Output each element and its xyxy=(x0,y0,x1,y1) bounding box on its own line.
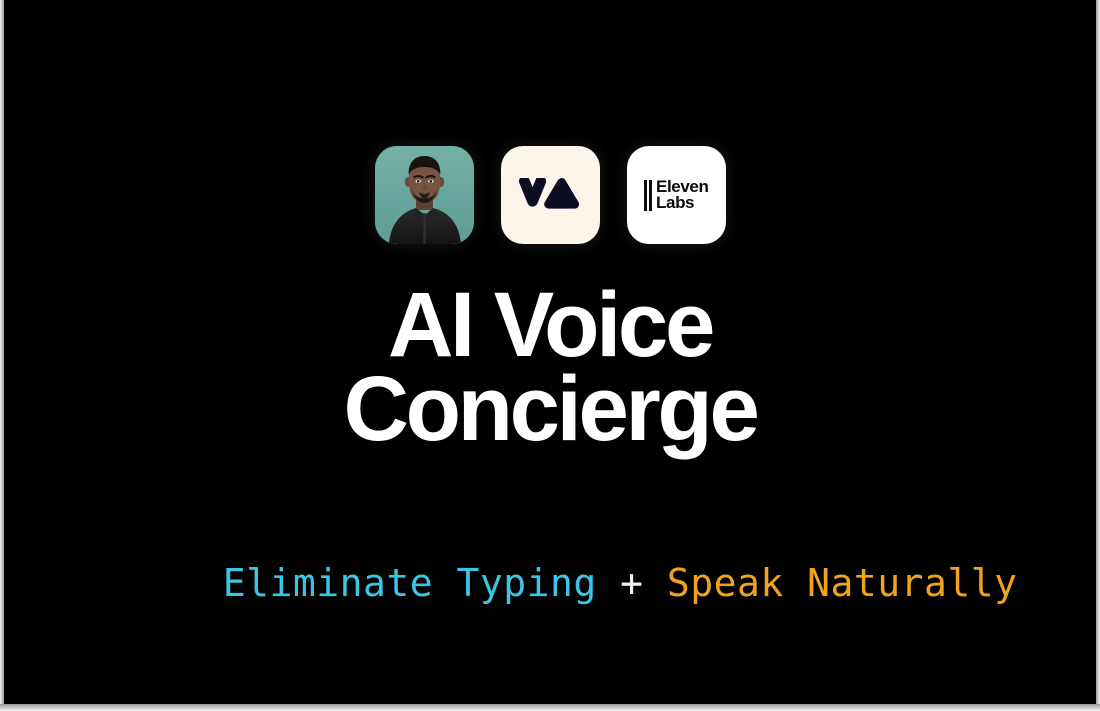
frame-edge-bottom xyxy=(0,704,1100,711)
va-logo xyxy=(501,146,600,244)
frame-edge-right xyxy=(1096,0,1100,711)
page-title: AI Voice Concierge xyxy=(8,283,1092,451)
elevenlabs-logo: Eleven Labs xyxy=(627,146,726,244)
elevenlabs-line-2: Labs xyxy=(656,195,708,211)
elevenlabs-wordmark: Eleven Labs xyxy=(656,179,708,210)
subtitle-segment-1: Eliminate Typing xyxy=(223,561,597,605)
slide-frame: Eleven Labs AI Voice Concierge Eliminate… xyxy=(0,0,1100,711)
avatar xyxy=(375,146,474,244)
subtitle-segment-2: Speak Naturally xyxy=(667,561,1018,605)
slide-stage: Eleven Labs AI Voice Concierge Eliminate… xyxy=(0,0,1100,711)
elevenlabs-bars-icon xyxy=(644,180,653,211)
subtitle-separator: + xyxy=(597,561,667,605)
va-mark-icon xyxy=(519,178,581,213)
elevenlabs-mark: Eleven Labs xyxy=(644,179,709,210)
subtitle: Eliminate Typing + Speak Naturally xyxy=(0,505,1100,661)
frame-edge-left xyxy=(0,0,4,711)
logo-row: Eleven Labs xyxy=(0,146,1100,244)
portrait-photo-icon xyxy=(375,146,474,244)
